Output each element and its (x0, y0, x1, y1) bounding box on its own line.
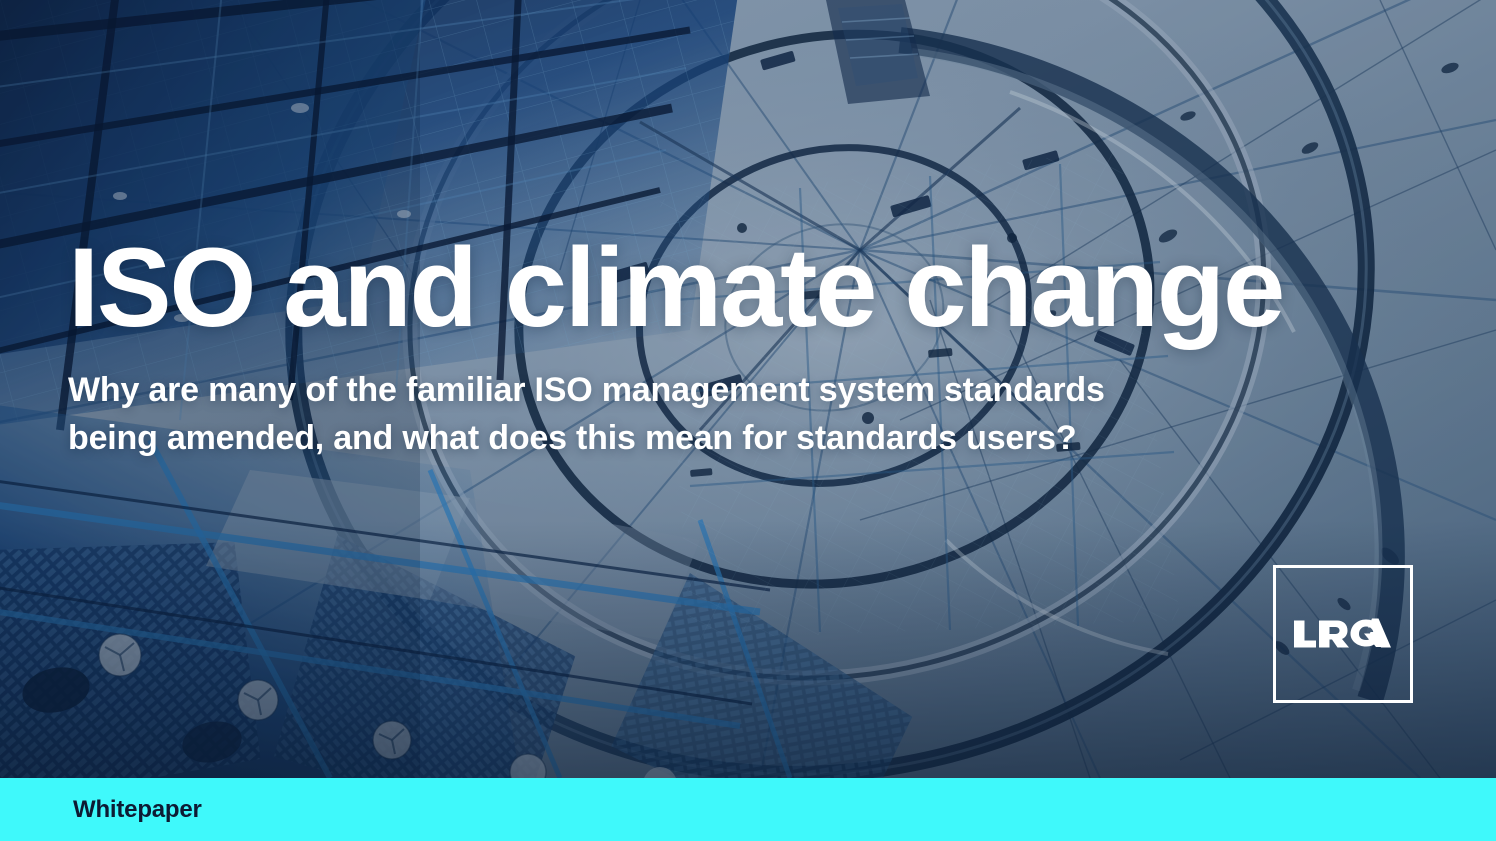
lrqa-logo (1273, 565, 1413, 703)
whitepaper-cover-page: ISO and climate change Why are many of t… (0, 0, 1496, 841)
document-type-label: Whitepaper (73, 796, 202, 824)
page-subtitle-line-2: being amended, and what does this mean f… (68, 414, 1298, 462)
page-title: ISO and climate change (68, 232, 1408, 344)
lrqa-wordmark-icon (1293, 617, 1393, 651)
hero-text-block: ISO and climate change Why are many of t… (68, 232, 1408, 462)
page-subtitle-line-1: Why are many of the familiar ISO managem… (68, 366, 1298, 414)
page-subtitle: Why are many of the familiar ISO managem… (68, 366, 1298, 462)
footer-bar: Whitepaper (0, 778, 1496, 841)
